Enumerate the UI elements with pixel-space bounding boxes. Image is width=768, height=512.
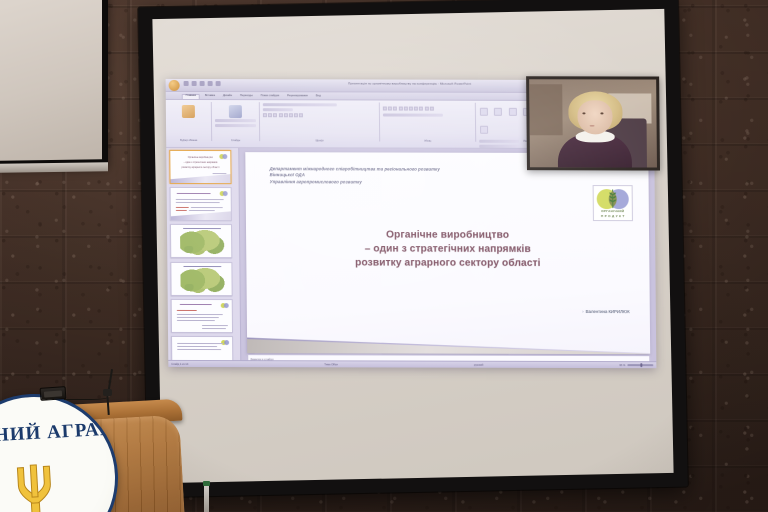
quick-access-toolbar[interactable] <box>184 81 221 86</box>
speaker-video-overlay <box>526 76 660 170</box>
columns-icon[interactable] <box>430 107 434 111</box>
line-spacing-icon[interactable] <box>404 107 408 111</box>
av-control-box-panel <box>44 390 62 397</box>
shape-outline-button[interactable] <box>479 144 519 147</box>
audio-cable <box>64 393 108 400</box>
ribbon-group-paragraph: Абзац <box>380 102 476 141</box>
slideshow-icon[interactable] <box>208 81 213 86</box>
ukrainian-trident-icon <box>13 462 56 512</box>
document-title: Презентація по органічному виробництву н… <box>348 81 471 85</box>
emblem-text: АЛЬНИЙ АГРАРН <box>0 419 113 450</box>
ribbon-group-font: Шрифт <box>260 102 380 141</box>
secondary-screen-bottom-rail <box>0 162 108 173</box>
numbering-icon[interactable] <box>388 107 392 111</box>
office-orb-icon[interactable] <box>169 80 180 91</box>
video-background-left <box>529 84 563 135</box>
floor-marker-light <box>203 481 210 486</box>
thumbnail-author-line <box>212 173 226 174</box>
slide-thumbnail-5[interactable] <box>171 299 233 333</box>
undo-icon[interactable] <box>192 81 197 86</box>
author-name: Валентина КИРИЛЮК <box>586 309 630 314</box>
convert-to-smartart-button[interactable] <box>383 113 443 116</box>
shape-banner-icon[interactable] <box>480 126 488 134</box>
shape-ellipse-icon[interactable] <box>494 108 502 116</box>
tab-home[interactable]: Главная <box>182 94 200 99</box>
screen-surface: Презентація по органічному виробництву н… <box>152 9 673 483</box>
ribbon-group-clipboard: Буфер обмена <box>166 102 212 141</box>
slide-title-line-2: – один з стратегічних напрямків <box>278 242 617 257</box>
powerpoint-workspace: Органічне виробництво – один з стратегіч… <box>166 148 656 368</box>
slide-counter: Слайд 1 из 14 <box>171 362 188 365</box>
redo-icon[interactable] <box>200 81 205 86</box>
zoom-control[interactable]: 66 % <box>619 364 653 367</box>
underline-icon[interactable] <box>273 113 277 117</box>
main-projection-screen: Презентація по органічному виробництву н… <box>138 0 688 497</box>
secondary-screen-surface <box>0 0 102 161</box>
tab-transitions[interactable]: Переходы <box>237 95 256 99</box>
logo-line-2: П Р О Д У К Т <box>594 214 632 219</box>
speaker-podium: АЛЬНИЙ АГРАРН <box>0 396 182 512</box>
zoom-slider[interactable] <box>627 365 653 366</box>
new-slide-icon[interactable] <box>229 105 242 118</box>
slide-title-line-1: Органічне виробництво <box>278 229 617 244</box>
tab-insert[interactable]: Вставка <box>202 95 218 99</box>
shadow-icon[interactable] <box>284 113 288 117</box>
save-icon[interactable] <box>184 81 189 86</box>
floor-marker-post <box>204 486 209 512</box>
bold-icon[interactable] <box>263 113 267 117</box>
organic-logo-icon <box>221 303 229 308</box>
char-spacing-icon[interactable] <box>289 113 293 117</box>
current-slide[interactable]: Департамент міжнародного співробітництва… <box>245 152 650 354</box>
av-control-box <box>40 386 67 401</box>
slide-editing-stage[interactable]: Департамент міжнародного співробітництва… <box>239 148 656 368</box>
layout-button[interactable] <box>215 119 256 122</box>
logo-text: ОРГАНІЧНИЙ П Р О Д У К Т <box>594 209 632 218</box>
bullets-icon[interactable] <box>383 106 387 110</box>
font-size-combo[interactable] <box>263 108 293 111</box>
video-feed <box>529 79 657 167</box>
thumbnail-title-3: розвитку аграрного сектору області <box>176 167 224 171</box>
ribbon-group-label: Абзац <box>380 139 475 142</box>
slide-thumbnail-2[interactable] <box>170 187 232 221</box>
strikethrough-icon[interactable] <box>278 113 282 117</box>
speaker-face <box>578 100 613 134</box>
shape-arrow-icon[interactable] <box>509 108 517 116</box>
microphone-capsule <box>103 389 112 396</box>
thumbnail-deco <box>171 211 231 220</box>
slide-header-text: Департамент міжнародного співробітництва… <box>270 166 560 185</box>
language-label: русский <box>474 363 483 366</box>
slide-thumbnail-1[interactable]: Органічне виробництво – один з стратегіч… <box>169 150 231 184</box>
align-center-icon[interactable] <box>414 107 418 111</box>
paste-icon[interactable] <box>182 105 195 118</box>
tab-review[interactable]: Рецензирование <box>284 96 311 100</box>
thumbnail-deco <box>170 174 230 183</box>
reset-button[interactable] <box>215 124 256 127</box>
tab-slideshow[interactable]: Показ слайдов <box>258 95 283 99</box>
align-left-icon[interactable] <box>409 107 413 111</box>
zoom-level: 66 % <box>619 364 625 367</box>
wheat-icon <box>608 189 617 209</box>
ukraine-map-icon <box>180 230 224 256</box>
italic-icon[interactable] <box>268 113 272 117</box>
organic-logo-icon <box>220 191 228 196</box>
font-style-buttons[interactable] <box>263 113 376 117</box>
thumbnail-title-2: – один з стратегічних напрямків <box>176 162 224 166</box>
bullet-icon: › <box>582 309 583 314</box>
decrease-indent-icon[interactable] <box>393 107 397 111</box>
theme-label: Тема Office <box>324 363 338 366</box>
justify-icon[interactable] <box>424 107 428 111</box>
change-case-icon[interactable] <box>294 113 298 117</box>
zoom-slider-handle[interactable] <box>640 363 642 367</box>
slide-thumbnail-4[interactable] <box>170 261 232 295</box>
ribbon-group-label: Слайды <box>212 139 259 142</box>
ukraine-map-icon <box>180 268 224 294</box>
slide-thumbnail-3[interactable] <box>170 224 232 258</box>
align-right-icon[interactable] <box>419 107 423 111</box>
slide-header-line-3: Управління агропромислового розвитку <box>270 179 560 186</box>
secondary-projection-screen <box>0 0 108 167</box>
powerpoint-status-bar: Слайд 1 из 14 Тема Office русский 66 % <box>168 360 656 368</box>
paragraph-buttons[interactable] <box>383 106 472 110</box>
tab-view[interactable]: Вид <box>313 96 324 100</box>
slide-title-line-3: розвитку аграрного сектору області <box>279 256 618 271</box>
organic-product-logo: ОРГАНІЧНИЙ П Р О Д У К Т <box>593 185 633 221</box>
increase-indent-icon[interactable] <box>398 107 402 111</box>
shape-rect-icon[interactable] <box>480 108 488 116</box>
slide-decorative-band <box>247 327 650 354</box>
slide-thumbnail-pane[interactable]: Органічне виробництво – один з стратегіч… <box>166 148 241 367</box>
chevron-down-icon[interactable] <box>216 81 221 86</box>
ribbon-group-label: Шрифт <box>260 139 379 142</box>
thumbnail-title: Органічне виробництво <box>176 157 224 161</box>
ribbon-group-slides: Слайды <box>212 102 260 141</box>
slide-author-credit: ›Валентина КИРИЛЮК <box>582 309 630 314</box>
font-color-icon[interactable] <box>299 113 303 117</box>
ribbon-group-label: Буфер обмена <box>166 139 211 142</box>
tab-design[interactable]: Дизайн <box>220 95 235 99</box>
slide-title-text: Органічне виробництво – один з стратегіч… <box>278 229 617 272</box>
font-family-combo[interactable] <box>263 103 337 106</box>
